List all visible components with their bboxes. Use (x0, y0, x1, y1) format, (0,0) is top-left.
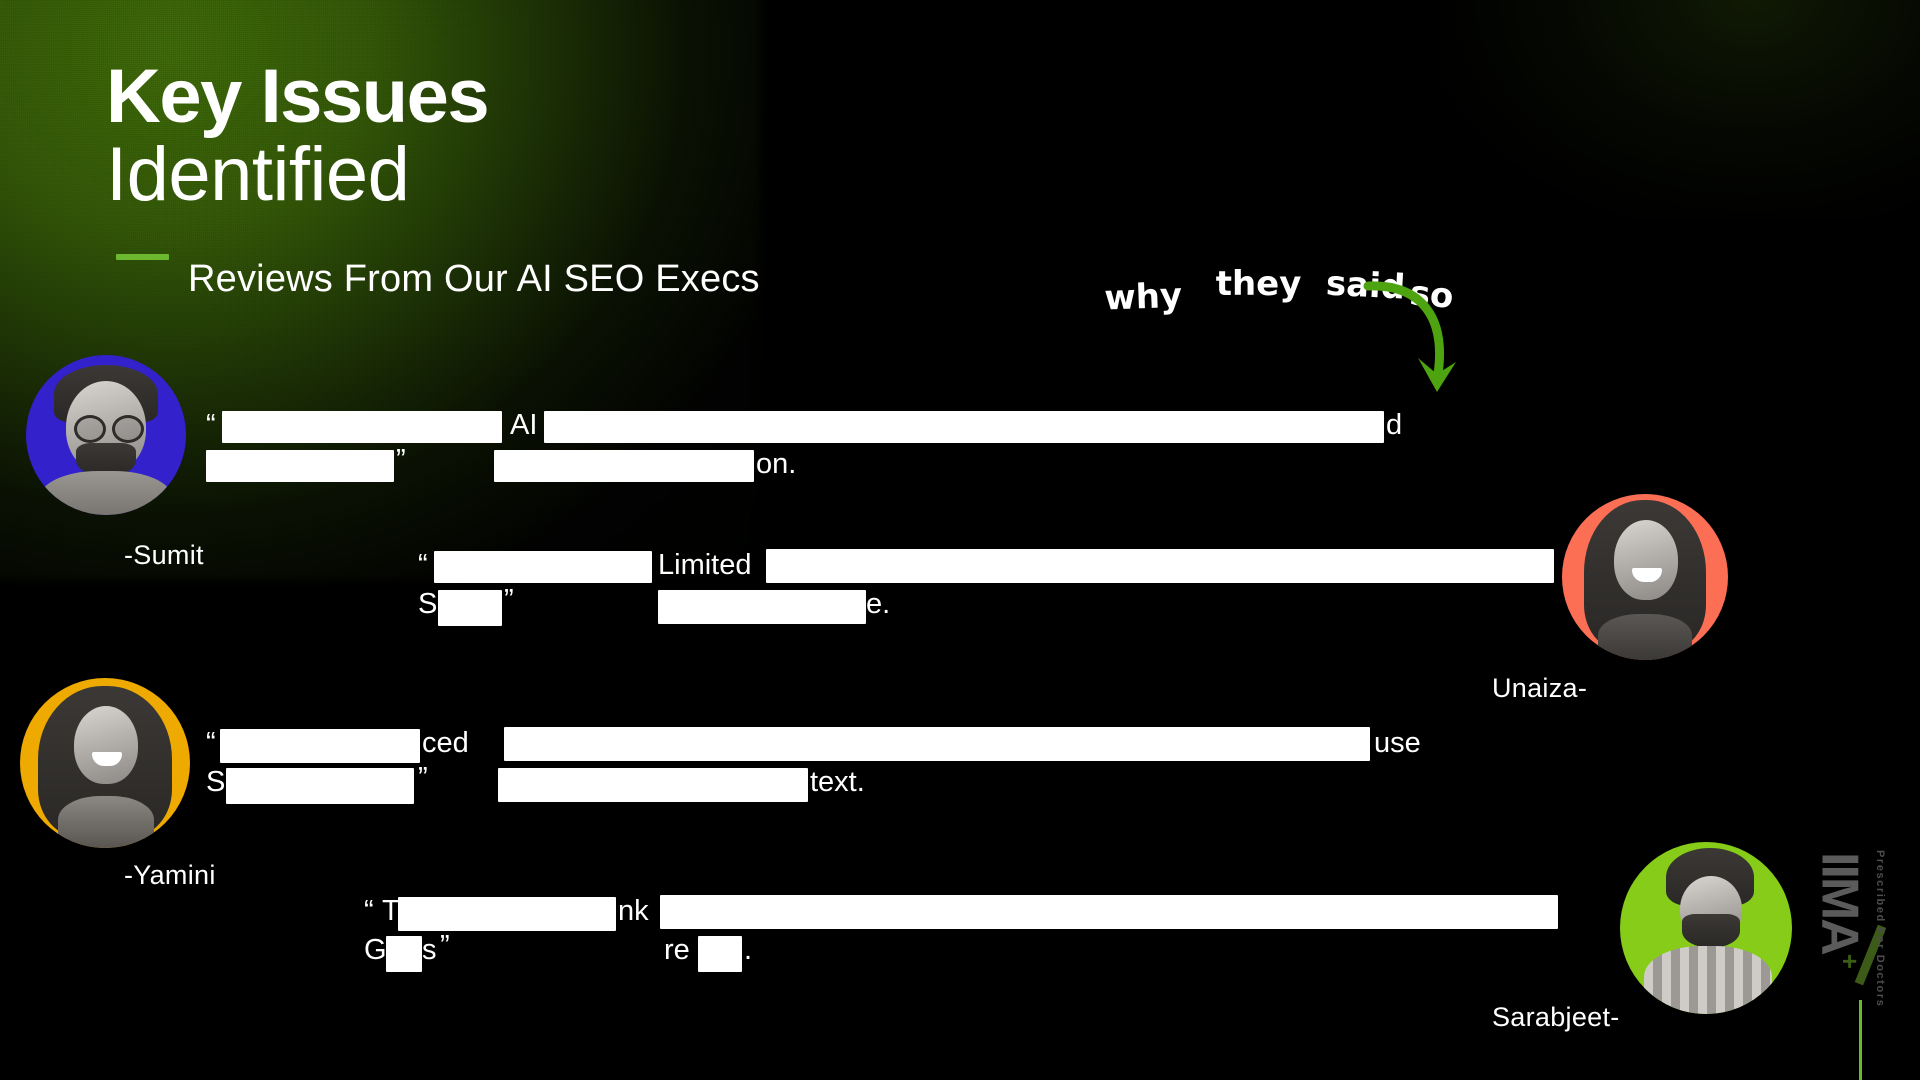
subtitle: Reviews From Our AI SEO Execs (188, 258, 760, 301)
visible-fragment-limited: Limited (658, 546, 752, 585)
avatar-glasses-right (112, 415, 144, 443)
quote-open-mark: “ (418, 546, 428, 585)
quote-open-mark: “ (206, 406, 216, 445)
annotation-word-so: so (1408, 273, 1455, 317)
accent-dash (116, 254, 169, 260)
visible-fragment-on: on. (756, 445, 796, 484)
avatar-head (1614, 520, 1678, 600)
visible-fragment-nk: nk (618, 892, 649, 931)
edge-accent-line (1859, 1000, 1862, 1080)
title-line-light: Identified (106, 136, 488, 214)
quote-close-mark: ” (418, 759, 428, 798)
annotation-word-they: they (1216, 264, 1302, 304)
quote-close-mark: ” (440, 927, 450, 966)
redaction-box (494, 450, 754, 482)
redaction-box (386, 936, 422, 972)
visible-fragment-d: d (1386, 406, 1402, 445)
redaction-box (398, 897, 616, 931)
visible-fragment-s: s (422, 931, 437, 970)
redaction-box (504, 727, 1370, 761)
annotation-word-why: why (1104, 276, 1183, 319)
annotation-word-said: said (1325, 264, 1406, 308)
quote-open-mark: “ (206, 724, 216, 763)
redaction-box (438, 590, 502, 626)
visible-fragment-text: text. (810, 763, 865, 802)
redaction-box (766, 549, 1554, 583)
quote-close-mark: ” (396, 441, 406, 480)
avatar-body (58, 796, 154, 848)
avatar-body (1598, 614, 1692, 660)
avatar-unaiza (1562, 494, 1728, 660)
redaction-box (434, 551, 652, 583)
redaction-box (544, 411, 1384, 443)
logo-wordmark: IIMA+ (1822, 852, 1878, 992)
redaction-box (206, 450, 394, 482)
avatar-body-shirt (1644, 946, 1772, 1014)
visible-fragment-e: e. (866, 585, 890, 624)
slide-canvas: Key Issues Identified Reviews From Our A… (0, 0, 1920, 1080)
visible-fragment-s: S (206, 763, 225, 802)
redaction-box (220, 729, 420, 763)
avatar-body (40, 471, 172, 515)
visible-fragment-ai: AI (510, 406, 537, 445)
visible-fragment-use: use (1374, 724, 1421, 763)
background-topright-glow (1440, 0, 1920, 220)
avatar-yamini (20, 678, 190, 848)
avatar-beard (1682, 914, 1740, 948)
avatar-sumit (26, 355, 186, 515)
testimonial-name-sumit: -Sumit (124, 540, 204, 571)
redaction-box (226, 768, 414, 804)
brand-logo: IIMA+ Prescribed For Doctors (1816, 840, 1912, 1020)
redaction-box (658, 590, 866, 624)
page-title: Key Issues Identified (106, 60, 488, 214)
testimonial-name-unaiza: Unaiza- (1492, 673, 1587, 704)
avatar-head (74, 706, 138, 784)
visible-fragment-period: . (744, 931, 752, 970)
visible-fragment-s: S (418, 585, 437, 624)
logo-text: IIMA (1811, 852, 1869, 954)
title-line-bold: Key Issues (106, 60, 488, 134)
visible-fragment-ced: ced (422, 724, 469, 763)
redaction-box (660, 895, 1558, 929)
quote-close-mark: ” (504, 581, 514, 620)
avatar-glasses-left (74, 415, 106, 443)
avatar-sarabjeet (1620, 842, 1792, 1014)
testimonial-name-sarabjeet: Sarabjeet- (1492, 1002, 1620, 1033)
redaction-box (498, 768, 808, 802)
logo-tagline: Prescribed For Doctors (1874, 850, 1886, 1007)
redaction-box (222, 411, 502, 443)
testimonial-name-yamini: -Yamini (124, 860, 216, 891)
quote-open-mark: “ (364, 892, 374, 931)
handwritten-annotation: why they said so (1102, 246, 1445, 330)
redaction-box (698, 936, 742, 972)
visible-fragment-g: G (364, 931, 387, 970)
visible-fragment-re: re (664, 931, 690, 970)
